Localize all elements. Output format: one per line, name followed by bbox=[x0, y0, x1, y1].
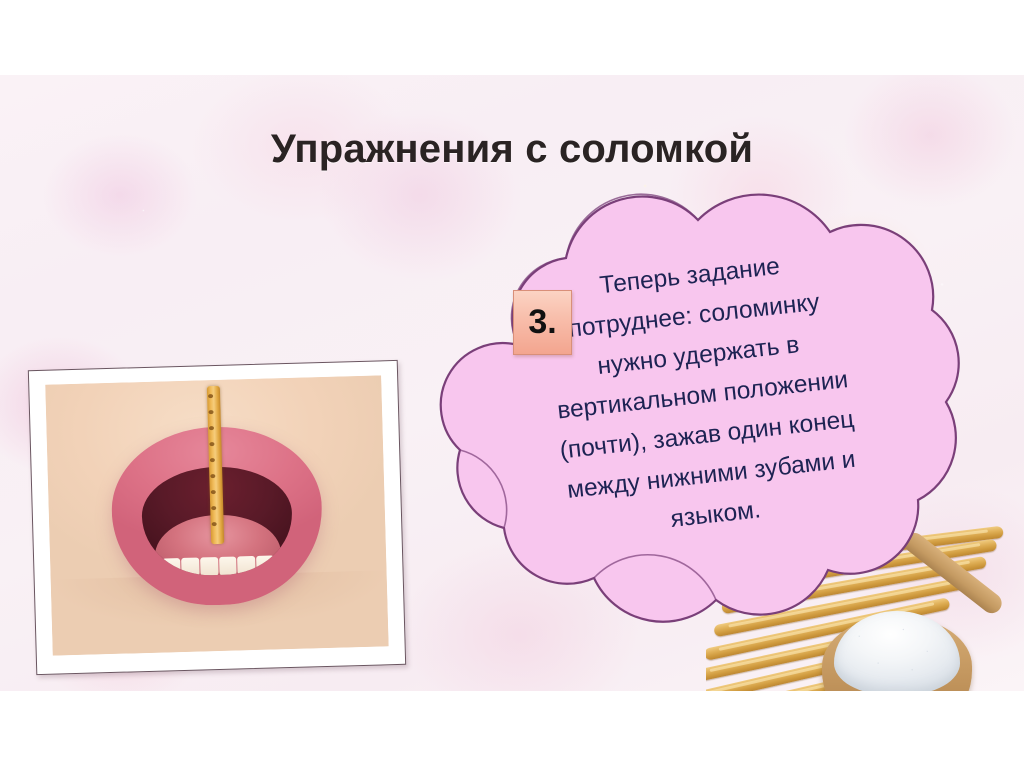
speech-bubble-shape bbox=[398, 170, 968, 660]
page-title: Упражнения с соломкой bbox=[0, 127, 1024, 172]
mouth-photo-image bbox=[45, 375, 388, 655]
step-number-badge: 3. bbox=[513, 290, 572, 355]
slide-canvas: Упражнения с соломкой bbox=[0, 0, 1024, 767]
slide-background: Упражнения с соломкой bbox=[0, 75, 1024, 691]
mouth-photo-frame bbox=[28, 360, 406, 675]
speech-bubble: Теперь задание потруднее: соломинку нужн… bbox=[398, 170, 968, 660]
photo-lower-teeth bbox=[162, 555, 275, 577]
